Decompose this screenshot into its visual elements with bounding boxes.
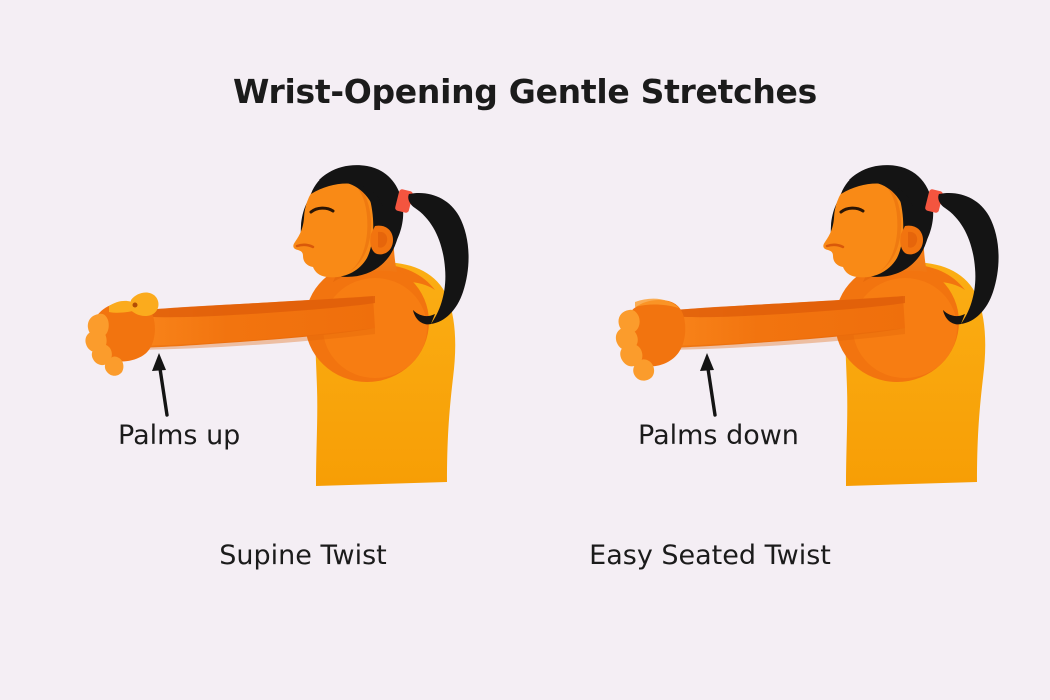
cue-label-left: Palms up [118,420,240,451]
exercise-panel-right [605,150,1050,510]
pose-caption-left: Supine Twist [68,540,538,571]
fist-palms-down [616,299,685,381]
exercise-panel-left [75,150,545,510]
up-arrow-icon [152,353,167,415]
cue-label-right: Palms down [638,420,799,451]
fist-palms-up [85,293,158,376]
stretch-poster: Wrist-Opening Gentle Stretches [0,0,1050,700]
seated-woman-arms-extended-figure [605,150,1050,510]
up-arrow-icon [700,353,715,415]
seated-woman-arms-extended-figure [75,150,545,510]
page-title: Wrist-Opening Gentle Stretches [0,72,1050,111]
pose-caption-right: Easy Seated Twist [475,540,945,571]
thumb-knuckle-dot [133,303,138,308]
